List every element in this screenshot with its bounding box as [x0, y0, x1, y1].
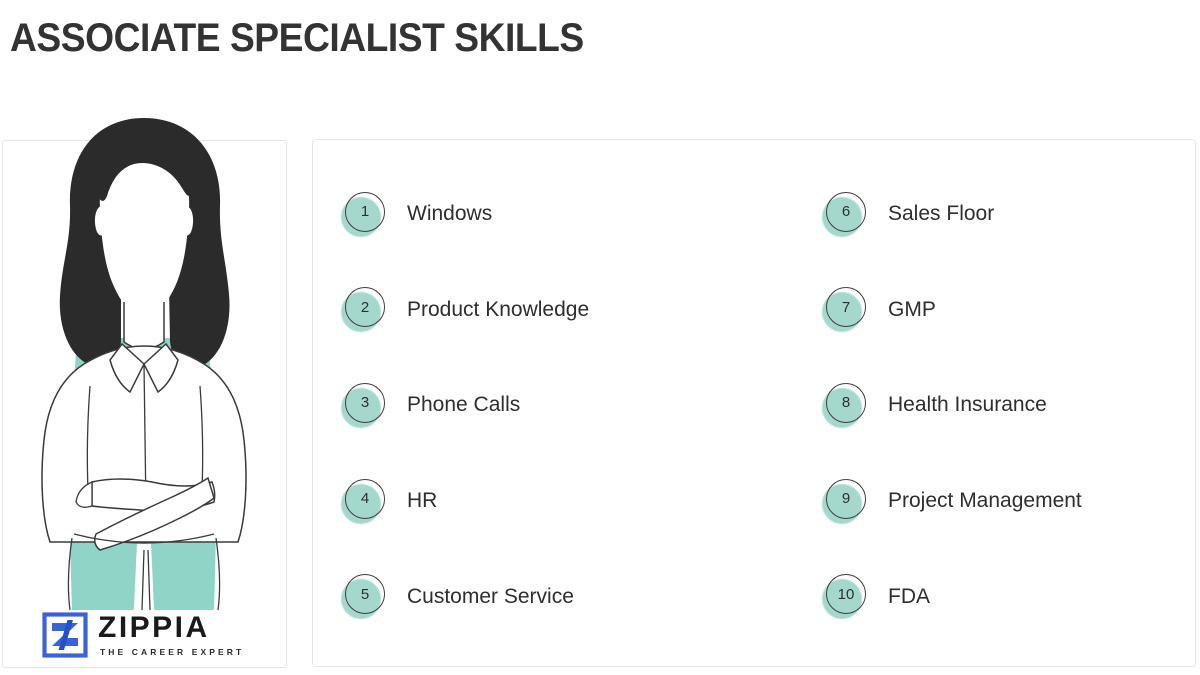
list-item[interactable]: 2 Product Knowledge: [313, 262, 754, 358]
badge-number: 8: [826, 383, 866, 423]
badge-number: 5: [345, 574, 385, 614]
logo-wordmark: ZIPPIA: [98, 613, 244, 643]
skills-card: 1 Windows 2 Product Knowledge 3 Phone Ca…: [312, 139, 1196, 667]
list-item[interactable]: 5 Customer Service: [313, 548, 754, 644]
skill-label: Product Knowledge: [407, 297, 589, 322]
skill-label: Customer Service: [407, 584, 574, 609]
skill-number-badge: 7: [822, 286, 868, 332]
list-item[interactable]: 4 HR: [313, 453, 754, 549]
skill-label: Project Management: [888, 488, 1082, 513]
badge-number: 2: [345, 287, 385, 327]
skill-label: Phone Calls: [407, 392, 520, 417]
badge-number: 10: [826, 574, 866, 614]
list-item[interactable]: 9 Project Management: [754, 453, 1195, 549]
list-item[interactable]: 8 Health Insurance: [754, 357, 1195, 453]
skill-label: GMP: [888, 297, 936, 322]
skill-number-badge: 1: [341, 191, 387, 237]
list-item[interactable]: 1 Windows: [313, 166, 754, 262]
woman-arms-crossed-illustration: [0, 110, 290, 610]
logo-tagline: THE CAREER EXPERT: [100, 648, 244, 657]
page-title: ASSOCIATE SPECIALIST SKILLS: [10, 16, 584, 60]
skill-number-badge: 8: [822, 382, 868, 428]
skill-number-badge: 9: [822, 478, 868, 524]
skill-label: FDA: [888, 584, 930, 609]
skill-number-badge: 2: [341, 286, 387, 332]
badge-number: 9: [826, 479, 866, 519]
skill-label: Windows: [407, 201, 492, 226]
skill-number-badge: 3: [341, 382, 387, 428]
skill-label: Sales Floor: [888, 201, 994, 226]
badge-number: 6: [826, 192, 866, 232]
skill-number-badge: 10: [822, 573, 868, 619]
list-item[interactable]: 10 FDA: [754, 548, 1195, 644]
badge-number: 4: [345, 479, 385, 519]
list-item[interactable]: 3 Phone Calls: [313, 357, 754, 453]
badge-number: 3: [345, 383, 385, 423]
skills-list: 1 Windows 2 Product Knowledge 3 Phone Ca…: [313, 140, 1195, 666]
zippia-z-mark: [42, 612, 88, 658]
skill-number-badge: 6: [822, 191, 868, 237]
badge-number: 1: [345, 192, 385, 232]
list-item[interactable]: 7 GMP: [754, 262, 1195, 358]
skill-label: HR: [407, 488, 437, 513]
zippia-logo[interactable]: ZIPPIA THE CAREER EXPERT: [42, 612, 244, 658]
illustration-container: [0, 110, 290, 610]
skill-number-badge: 4: [341, 478, 387, 524]
skill-label: Health Insurance: [888, 392, 1047, 417]
list-item[interactable]: 6 Sales Floor: [754, 166, 1195, 262]
badge-number: 7: [826, 287, 866, 327]
skill-number-badge: 5: [341, 573, 387, 619]
